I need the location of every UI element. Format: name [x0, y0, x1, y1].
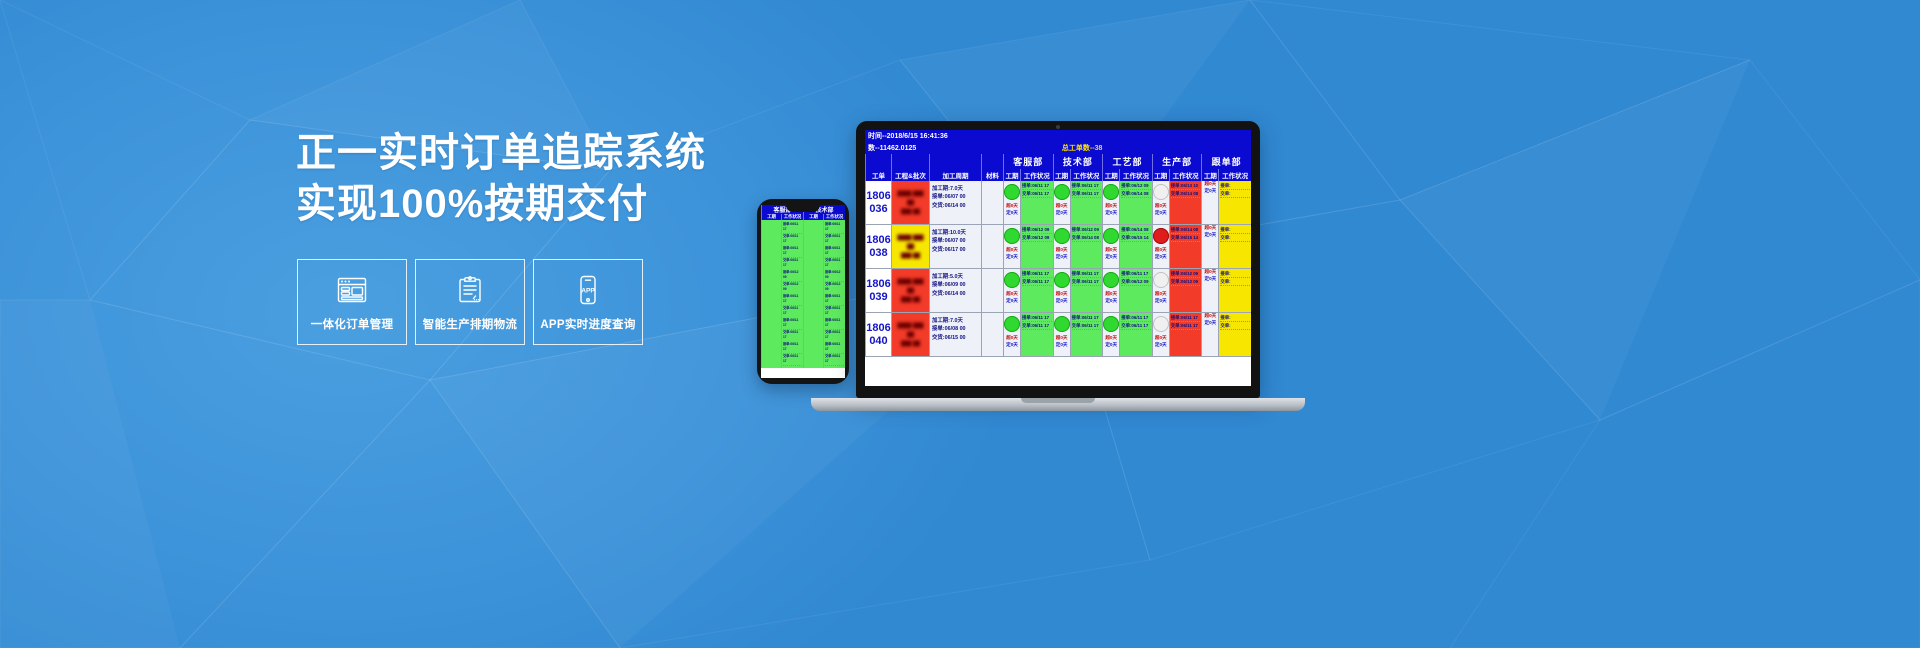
erp-duration-cell-1[interactable]: 超0天定0天 — [1003, 269, 1020, 312]
phone-work-status-line: 接单:06/11 17 — [783, 342, 802, 354]
erp-work-status-cell-2[interactable]: 接单:06/11 17交单:06/11 17 — [1070, 181, 1103, 224]
erp-table-row[interactable]: 1806039████ ████████ ██加工期:5.0天接单:06/09 … — [865, 269, 1251, 313]
laptop-lid: 时间--2018/6/15 16:41:36 数--11462.0125 总工单… — [856, 121, 1260, 398]
erp-work-status-line: 交单:06/14 08 — [1121, 190, 1151, 198]
status-time: 时间--2018/6/15 16:41:36 — [868, 131, 948, 141]
erp-work-order-part: 1806 — [866, 278, 890, 290]
erp-work-status-line: 接单:06/12 09 — [1121, 182, 1151, 190]
erp-work-status-cell-1[interactable]: 接单:06/11 17交单:06/11 17 — [1020, 181, 1053, 224]
erp-work-status-line: 接单:06/13 10 — [1171, 182, 1201, 190]
erp-work-status-line: 交单:06/11 17 — [1072, 322, 1102, 330]
erp-work-status-line: 接单:06/11 17 — [1072, 182, 1102, 190]
erp-duration-cell-5[interactable]: 超0天定0天 — [1201, 269, 1218, 312]
erp-work-status-cell-5[interactable]: 接单:交单: — [1218, 269, 1251, 312]
erp-work-status-line: 接单: — [1220, 314, 1250, 322]
erp-work-status-cell-2[interactable]: 接单:06/12 09交单:06/14 08 — [1070, 225, 1103, 268]
erp-status-dot-green[interactable] — [1054, 316, 1070, 332]
phone-duration-cell-1[interactable] — [761, 340, 781, 368]
erp-work-status-line: 交单: — [1220, 322, 1250, 330]
erp-status-fixed: 定0天 — [1103, 298, 1119, 305]
mobile-app-icon: APP — [571, 273, 605, 307]
phone-work-status-line: 接单:06/12 09 — [825, 270, 844, 282]
erp-cycle-cell[interactable]: 加工期:5.0天接单:06/09 00交货:06/14 00 — [929, 269, 981, 312]
erp-work-status-line: 接单:06/11 17 — [1171, 314, 1201, 322]
erp-cycle-line: 交货:06/14 00 — [932, 290, 979, 298]
erp-dept-spacer — [981, 154, 1003, 169]
erp-status-over: 超0天 — [1202, 269, 1218, 276]
erp-work-status-cell-5[interactable]: 接单:交单: — [1218, 181, 1251, 224]
erp-duration-cell-3[interactable]: 超0天定0天 — [1102, 225, 1119, 268]
erp-duration-cell-5[interactable]: 超0天定0天 — [1201, 181, 1218, 224]
erp-duration-cell-2[interactable]: 超0天定0天 — [1053, 225, 1070, 268]
erp-status-fixed: 定0天 — [1004, 342, 1020, 349]
erp-duration-cell-4[interactable]: 超0天定0天 — [1152, 181, 1169, 224]
erp-status-fixed: 定0天 — [1054, 342, 1070, 349]
erp-material-cell[interactable] — [981, 313, 1003, 356]
erp-work-status-line: 交单:06/11 17 — [1121, 322, 1151, 330]
erp-cycle-line: 加工期:5.0天 — [932, 273, 979, 281]
erp-status-over: 超0天 — [1004, 203, 1020, 210]
erp-department-2[interactable]: 技术部 — [1053, 154, 1103, 169]
erp-work-status-line: 交单: — [1220, 278, 1250, 286]
erp-status-fixed: 定0天 — [1103, 342, 1119, 349]
erp-material-cell[interactable] — [981, 269, 1003, 312]
erp-subcol-3-1[interactable]: 工期 — [1102, 169, 1119, 181]
erp-status-dot-green[interactable] — [1103, 184, 1119, 200]
phone-work-status-line: 接单:06/11 17 — [783, 246, 802, 258]
erp-work-order-part: 1806 — [866, 322, 890, 334]
erp-status-dot-green[interactable] — [1103, 316, 1119, 332]
erp-work-status-line: 交单:06/11 17 — [1022, 190, 1052, 198]
erp-work-status-cell-2[interactable]: 接单:06/11 17交单:06/11 17 — [1070, 269, 1103, 312]
erp-status-fixed: 定0天 — [1153, 210, 1169, 217]
erp-department-3[interactable]: 工艺部 — [1102, 154, 1152, 169]
erp-work-order-cell[interactable]: 1806040 — [865, 313, 891, 356]
erp-work-status-line: 接单: — [1220, 270, 1250, 278]
erp-duration-cell-1[interactable]: 超0天定0天 — [1003, 225, 1020, 268]
erp-work-status-cell-1[interactable]: 接单:06/11 17交单:06/11 17 — [1020, 269, 1053, 312]
erp-status-fixed: 定0天 — [1103, 254, 1119, 261]
erp-work-status-line: 交单:06/11 17 — [1022, 278, 1052, 286]
erp-work-order-cell[interactable]: 1806039 — [865, 269, 891, 312]
erp-subcol-1-2[interactable]: 工作状况 — [1020, 169, 1053, 181]
erp-status-fixed: 定0天 — [1103, 210, 1119, 217]
phone-screen[interactable]: 客服部技术部 工期工作状况工期工作状况 接单:06/11 17交单:06/11 … — [761, 205, 845, 378]
erp-status-dot-white[interactable] — [1153, 184, 1169, 200]
erp-duration-cell-2[interactable]: 超0天定0天 — [1053, 269, 1070, 312]
erp-status-fixed: 定0天 — [1202, 276, 1218, 283]
headline-line-2: 实现100%按期交付 — [296, 179, 716, 230]
erp-cycle-cell[interactable]: 加工期:7.0天接单:06/07 00交货:06/14 00 — [929, 181, 981, 224]
erp-project-batch-cell[interactable]: ████ ████████ ██ — [891, 225, 929, 268]
erp-status-fixed: 定0天 — [1004, 210, 1020, 217]
erp-dept-spacer — [865, 154, 891, 169]
feature-label-app-tracking: APP实时进度查询 — [540, 316, 635, 332]
status-total-orders: 总工单数--38 — [1062, 143, 1102, 153]
erp-status-dot-green[interactable] — [1004, 272, 1020, 288]
erp-status-over: 超0天 — [1004, 247, 1020, 254]
phone-body: 客服部技术部 工期工作状况工期工作状况 接单:06/11 17交单:06/11 … — [757, 199, 849, 384]
erp-status-fixed: 定0天 — [1004, 298, 1020, 305]
erp-project-batch-cell[interactable]: ████ ████████ ██ — [891, 269, 929, 312]
phone-table-body[interactable]: 接单:06/11 17交单:06/11 17接单:06/11 17交单:06/1… — [761, 220, 845, 364]
erp-work-status-line: 交单:06/14 08 — [1072, 234, 1102, 242]
phone-work-status-line: 接单:06/11 17 — [825, 222, 844, 234]
erp-status-dot-green[interactable] — [1103, 272, 1119, 288]
erp-cycle-cell[interactable]: 加工期:7.0天接单:06/08 00交货:06/15 00 — [929, 313, 981, 356]
erp-work-status-cell-3[interactable]: 接单:06/12 09交单:06/14 08 — [1119, 181, 1152, 224]
erp-work-status-cell-3[interactable]: 接单:06/14 08交单:06/15 14 — [1119, 225, 1152, 268]
erp-status-over: 超0天 — [1153, 291, 1169, 298]
erp-work-status-line: 接单:06/12 09 — [1171, 270, 1201, 278]
erp-work-order-part: 040 — [869, 335, 887, 347]
erp-duration-cell-1[interactable]: 超0天定0天 — [1003, 181, 1020, 224]
laptop-mockup: 时间--2018/6/15 16:41:36 数--11462.0125 总工单… — [856, 121, 1305, 411]
erp-work-status-line: 交单: — [1220, 190, 1250, 198]
erp-cycle-line: 接单:06/09 00 — [932, 281, 979, 289]
erp-status-over: 超0天 — [1103, 203, 1119, 210]
erp-column-header-2[interactable]: 工程&批次 — [891, 169, 929, 181]
phone-mockup: 客服部技术部 工期工作状况工期工作状况 接单:06/11 17交单:06/11 … — [757, 199, 849, 384]
phone-work-status-line: 接单:06/11 17 — [783, 294, 802, 306]
erp-status-dot-red[interactable] — [1153, 228, 1169, 244]
phone-work-status-line: 接单:06/11 17 — [783, 222, 802, 234]
phone-work-status-cell-1[interactable]: 接单:06/11 17交单:06/11 17 — [781, 340, 803, 368]
erp-work-status-cell-1[interactable]: 接单:06/12 09交单:06/12 09 — [1020, 225, 1053, 268]
erp-status-fixed: 定0天 — [1054, 210, 1070, 217]
phone-work-status-line: 接单:06/11 17 — [825, 246, 844, 258]
erp-cycle-line: 交货:06/14 00 — [932, 202, 979, 210]
erp-cycle-line: 加工期:7.0天 — [932, 317, 979, 325]
erp-status-over: 超0天 — [1103, 335, 1119, 342]
erp-work-order-part: 1806 — [866, 190, 890, 202]
dashboard-layout-icon — [335, 273, 369, 307]
erp-cycle-line: 接单:06/07 00 — [932, 193, 979, 201]
erp-work-status-line: 交单:06/11 17 — [1022, 322, 1052, 330]
hero-copy: 正一实时订单追踪系统 实现100%按期交付 — [296, 128, 716, 230]
erp-duration-cell-3[interactable]: 超0天定0天 — [1102, 181, 1119, 224]
erp-cycle-line: 交货:06/15 00 — [932, 334, 979, 342]
erp-status-fixed: 定0天 — [1202, 188, 1218, 195]
feature-label-order-management: 一体化订单管理 — [311, 316, 394, 332]
erp-work-status-cell-3[interactable]: 接单:06/11 17交单:06/12 09 — [1119, 269, 1152, 312]
erp-work-status-line: 接单:06/11 17 — [1121, 270, 1151, 278]
erp-status-fixed: 定0天 — [1153, 342, 1169, 349]
erp-material-cell[interactable] — [981, 225, 1003, 268]
erp-work-status-cell-2[interactable]: 接单:06/11 17交单:06/11 17 — [1070, 313, 1103, 356]
phone-table-row[interactable]: 接单:06/12 09交单:06/12 09接单:06/12 09交单:06/1… — [761, 268, 845, 292]
phone-table-row[interactable]: 接单:06/11 17交单:06/11 17接单:06/11 17交单:06/1… — [761, 220, 845, 244]
erp-work-status-cell-4[interactable]: 接单:06/12 09交单:06/12 09 — [1169, 269, 1202, 312]
erp-project-batch-redacted: ████ ████████ ██ — [892, 181, 929, 224]
phone-notch — [786, 205, 820, 212]
erp-table-body[interactable]: 1806036████ ████████ ██加工期:7.0天接单:06/07 … — [865, 181, 1251, 357]
erp-table-row[interactable]: 1806038████ ████████ ██加工期:10.0天接单:06/07… — [865, 225, 1251, 269]
phone-table-row[interactable]: 接单:06/11 17交单:06/11 17接单:06/11 17交单:06/1… — [761, 316, 845, 340]
erp-department-header: 客服部技术部工艺部生产部跟单部 — [865, 154, 1251, 169]
laptop-base — [811, 398, 1305, 411]
erp-work-status-cell-1[interactable]: 接单:06/11 17交单:06/11 17 — [1020, 313, 1053, 356]
erp-status-fixed: 定0天 — [1202, 232, 1218, 239]
erp-project-batch-redacted: ████ ████████ ██ — [892, 269, 929, 312]
erp-work-status-line: 交单:06/15 14 — [1171, 234, 1201, 242]
erp-work-status-cell-4[interactable]: 接单:06/13 10交单:06/14 08 — [1169, 181, 1202, 224]
feature-label-production-logistics: 智能生产排期物流 — [423, 316, 517, 332]
erp-status-fixed: 定0天 — [1054, 298, 1070, 305]
erp-dept-spacer — [891, 154, 929, 169]
erp-work-order-cell[interactable]: 1806036 — [865, 181, 891, 224]
erp-cycle-line: 接单:06/07 00 — [932, 237, 979, 245]
erp-status-dot-green[interactable] — [1004, 316, 1020, 332]
erp-status-fixed: 定0天 — [1153, 254, 1169, 261]
erp-subcol-3-2[interactable]: 工作状况 — [1119, 169, 1152, 181]
erp-duration-cell-2[interactable]: 超0天定0天 — [1053, 181, 1070, 224]
phone-work-status-line: 交单:06/11 17 — [825, 354, 844, 366]
headline-line-1: 正一实时订单追踪系统 — [296, 128, 716, 179]
erp-status-over: 超0天 — [1054, 203, 1070, 210]
erp-column-header-1[interactable]: 工单 — [865, 169, 891, 181]
erp-subcol-1-1[interactable]: 工期 — [1003, 169, 1020, 181]
erp-subheader: 工单工程&批次加工周期材料工期工作状况工期工作状况工期工作状况工期工作状况工期工… — [865, 169, 1251, 181]
erp-work-status-line: 接单:06/11 17 — [1022, 270, 1052, 278]
erp-duration-cell-4[interactable]: 超0天定0天 — [1152, 313, 1169, 356]
phone-work-status-line: 接单:06/11 17 — [825, 318, 844, 330]
erp-cycle-line: 加工期:7.0天 — [932, 185, 979, 193]
erp-status-over: 超0天 — [1004, 291, 1020, 298]
erp-subcol-4-2[interactable]: 工作状况 — [1169, 169, 1202, 181]
phone-work-status-line: 接单:06/11 17 — [825, 294, 844, 306]
erp-subcol-4-1[interactable]: 工期 — [1152, 169, 1169, 181]
erp-status-dot-green[interactable] — [1004, 184, 1020, 200]
erp-work-status-line: 交单: — [1220, 234, 1250, 242]
erp-work-status-line: 交单:06/11 17 — [1072, 190, 1102, 198]
erp-table-row[interactable]: 1806036████ ████████ ██加工期:7.0天接单:06/07 … — [865, 181, 1251, 225]
phone-work-status-cell-2[interactable]: 接单:06/11 17交单:06/11 17 — [823, 340, 845, 368]
erp-status-fixed: 定0天 — [1202, 320, 1218, 327]
erp-department-5[interactable]: 跟单部 — [1201, 154, 1251, 169]
erp-status-over: 超0天 — [1153, 203, 1169, 210]
erp-work-status-line: 接单:06/11 17 — [1072, 270, 1102, 278]
erp-work-order-part: 036 — [869, 203, 887, 215]
erp-work-status-line: 接单:06/12 09 — [1072, 226, 1102, 234]
phone-work-status-line: 接单:06/11 17 — [825, 342, 844, 354]
phone-duration-cell-2[interactable] — [803, 340, 823, 368]
erp-department-4[interactable]: 生产部 — [1152, 154, 1202, 169]
erp-status-over: 超0天 — [1054, 247, 1070, 254]
feature-card-app-tracking[interactable]: APP APP实时进度查询 — [533, 259, 643, 345]
erp-status-over: 超0天 — [1054, 291, 1070, 298]
erp-status-dot-green[interactable] — [1054, 184, 1070, 200]
erp-subcol-2-2[interactable]: 工作状况 — [1070, 169, 1103, 181]
erp-status-over: 超0天 — [1004, 335, 1020, 342]
erp-work-status-line: 接单:06/12 09 — [1022, 226, 1052, 234]
erp-dept-spacer — [929, 154, 981, 169]
erp-status-dot-green[interactable] — [1054, 228, 1070, 244]
erp-project-batch-redacted: ████ ████████ ██ — [892, 225, 929, 268]
status-count: 数--11462.0125 — [868, 143, 916, 153]
erp-work-status-line: 交单:06/12 09 — [1121, 278, 1151, 286]
erp-work-status-line: 交单:06/11 17 — [1171, 322, 1201, 330]
erp-status-dot-green[interactable] — [1054, 272, 1070, 288]
erp-status-dot-green[interactable] — [1103, 228, 1119, 244]
erp-project-batch-redacted: ████ ████████ ██ — [892, 313, 929, 356]
erp-status-dot-green[interactable] — [1004, 228, 1020, 244]
erp-subcol-2-1[interactable]: 工期 — [1053, 169, 1070, 181]
phone-table-row[interactable]: 接单:06/11 17交单:06/11 17接单:06/11 17交单:06/1… — [761, 340, 845, 364]
erp-work-status-line: 交单:06/15 14 — [1121, 234, 1151, 242]
erp-work-status-line: 接单:06/11 17 — [1072, 314, 1102, 322]
erp-duration-cell-3[interactable]: 超0天定0天 — [1102, 269, 1119, 312]
erp-cycle-line: 接单:06/08 00 — [932, 325, 979, 333]
erp-work-status-line: 接单:06/11 17 — [1121, 314, 1151, 322]
erp-work-status-line: 交单:06/12 09 — [1171, 278, 1201, 286]
erp-work-status-cell-3[interactable]: 接单:06/11 17交单:06/11 17 — [1119, 313, 1152, 356]
laptop-screen[interactable]: 时间--2018/6/15 16:41:36 数--11462.0125 总工单… — [865, 130, 1251, 386]
clipboard-checklist-icon — [453, 273, 487, 307]
erp-status-over: 超0天 — [1202, 181, 1218, 188]
erp-work-order-part: 1806 — [866, 234, 890, 246]
erp-cycle-line: 加工期:10.0天 — [932, 229, 979, 237]
erp-duration-cell-5[interactable]: 超0天定0天 — [1201, 313, 1218, 356]
erp-cycle-cell[interactable]: 加工期:10.0天接单:06/07 00交货:06/17 00 — [929, 225, 981, 268]
erp-work-order-part: 038 — [869, 247, 887, 259]
erp-work-status-cell-4[interactable]: 接单:06/11 17交单:06/11 17 — [1169, 313, 1202, 356]
erp-status-fixed: 定0天 — [1153, 298, 1169, 305]
phone-table-row[interactable]: 接单:06/11 17交单:06/11 17接单:06/11 17交单:06/1… — [761, 292, 845, 316]
erp-duration-cell-2[interactable]: 超0天定0天 — [1053, 313, 1070, 356]
phone-work-status-line: 交单:06/11 17 — [783, 354, 802, 366]
erp-work-status-line: 接单:06/14 08 — [1171, 226, 1201, 234]
svg-text:APP: APP — [581, 287, 595, 294]
erp-department-1[interactable]: 客服部 — [1003, 154, 1053, 169]
erp-table-row[interactable]: 1806040████ ████████ ██加工期:7.0天接单:06/08 … — [865, 313, 1251, 357]
erp-project-batch-cell[interactable]: ████ ████████ ██ — [891, 181, 929, 224]
erp-status-dot-white[interactable] — [1153, 272, 1169, 288]
erp-column-header-4[interactable]: 材料 — [981, 169, 1003, 181]
feature-card-order-management[interactable]: 一体化订单管理 — [297, 259, 407, 345]
erp-status-fixed: 定0天 — [1004, 254, 1020, 261]
erp-work-order-cell[interactable]: 1806038 — [865, 225, 891, 268]
erp-status-dot-white[interactable] — [1153, 316, 1169, 332]
erp-cycle-line: 交货:06/17 00 — [932, 246, 979, 254]
erp-work-status-line: 接单:06/14 08 — [1121, 226, 1151, 234]
erp-duration-cell-1[interactable]: 超0天定0天 — [1003, 313, 1020, 356]
erp-status-over: 超0天 — [1054, 335, 1070, 342]
erp-project-batch-cell[interactable]: ████ ████████ ██ — [891, 313, 929, 356]
phone-work-status-line: 接单:06/11 17 — [783, 318, 802, 330]
erp-work-status-line: 接单: — [1220, 226, 1250, 234]
erp-status-fixed: 定0天 — [1054, 254, 1070, 261]
erp-work-status-line: 交单:06/14 08 — [1171, 190, 1201, 198]
erp-work-status-line: 接单:06/11 17 — [1022, 182, 1052, 190]
erp-work-status-line: 接单: — [1220, 182, 1250, 190]
erp-status-over: 超0天 — [1103, 291, 1119, 298]
erp-work-status-cell-5[interactable]: 接单:交单: — [1218, 313, 1251, 356]
erp-status-over: 超0天 — [1202, 225, 1218, 232]
phone-table-row[interactable]: 接单:06/11 17交单:06/11 17接单:06/11 17交单:06/1… — [761, 244, 845, 268]
feature-list: 一体化订单管理 智能生产排期物流 APP — [297, 259, 643, 345]
erp-work-status-line: 交单:06/11 17 — [1072, 278, 1102, 286]
erp-duration-cell-3[interactable]: 超0天定0天 — [1102, 313, 1119, 356]
erp-work-status-line: 交单:06/12 09 — [1022, 234, 1052, 242]
erp-duration-cell-5[interactable]: 超0天定0天 — [1201, 225, 1218, 268]
erp-subcol-5-2[interactable]: 工作状况 — [1218, 169, 1251, 181]
erp-duration-cell-4[interactable]: 超0天定0天 — [1152, 269, 1169, 312]
erp-subcol-5-1[interactable]: 工期 — [1201, 169, 1218, 181]
erp-material-cell[interactable] — [981, 181, 1003, 224]
erp-work-status-cell-4[interactable]: 接单:06/14 08交单:06/15 14 — [1169, 225, 1202, 268]
erp-work-status-line: 接单:06/11 17 — [1022, 314, 1052, 322]
erp-status-bar: 时间--2018/6/15 16:41:36 数--11462.0125 总工单… — [865, 130, 1251, 154]
erp-status-over: 超0天 — [1153, 335, 1169, 342]
erp-work-status-cell-5[interactable]: 接单:交单: — [1218, 225, 1251, 268]
erp-column-header-3[interactable]: 加工周期 — [929, 169, 981, 181]
erp-work-order-part: 039 — [869, 291, 887, 303]
feature-card-production-logistics[interactable]: 智能生产排期物流 — [415, 259, 525, 345]
erp-status-over: 超0天 — [1202, 313, 1218, 320]
erp-status-over: 超0天 — [1153, 247, 1169, 254]
erp-status-over: 超0天 — [1103, 247, 1119, 254]
erp-duration-cell-4[interactable]: 超0天定0天 — [1152, 225, 1169, 268]
phone-work-status-line: 接单:06/12 09 — [783, 270, 802, 282]
